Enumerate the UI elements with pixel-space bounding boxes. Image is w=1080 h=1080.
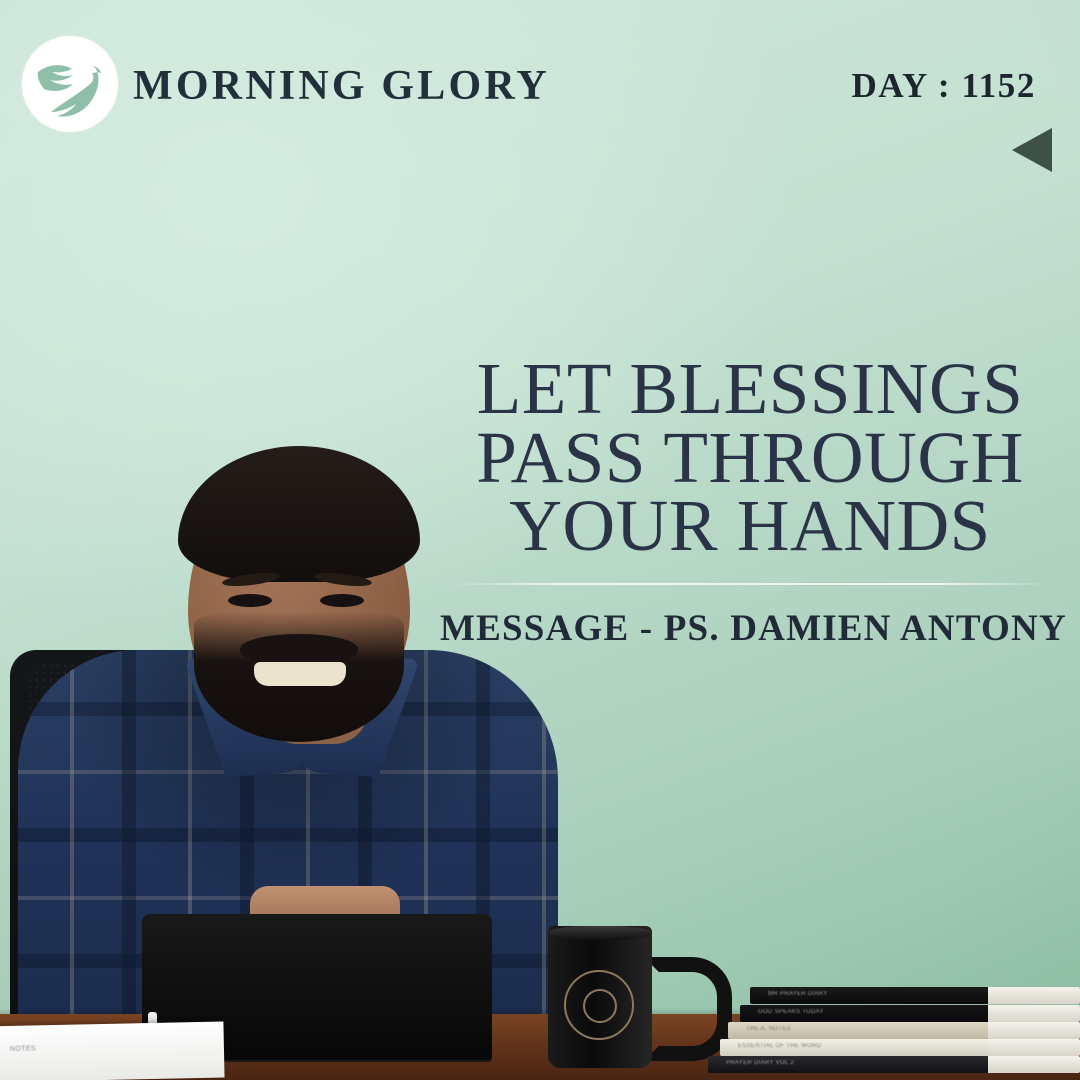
title-divider [452, 583, 1048, 585]
brand-title: MORNING GLORY [133, 62, 550, 110]
book-spine-text: GOD SPEAKS TODAY [758, 1009, 824, 1015]
book-spine-text: MR PRAYER DIARY [768, 991, 828, 997]
paper-note-text: NOTES [10, 1045, 36, 1053]
day-counter: DAY : 1152 [851, 66, 1036, 106]
book-spine-text: PRAYER DIARY VOL 2 [726, 1060, 794, 1066]
paper-notes: NOTES [0, 1021, 225, 1080]
speaker-head [188, 462, 410, 728]
speaker-smile [254, 662, 346, 686]
coffee-mug [548, 923, 708, 1068]
book-item: THE A. NOTES [728, 1022, 1080, 1039]
headline-line-3: YOUR HANDS [440, 492, 1060, 561]
speaker-mustache [240, 634, 358, 664]
book-page-edge [988, 1005, 1080, 1022]
message-block: LET BLESSINGS PASS THROUGH YOUR HANDS ME… [440, 355, 1060, 650]
book-item: MR PRAYER DIARY [750, 987, 1080, 1004]
book-item: PRAYER DIARY VOL 2 [708, 1056, 1080, 1073]
page-title: LET BLESSINGS PASS THROUGH YOUR HANDS [440, 355, 1060, 561]
book-page-edge [988, 1022, 1080, 1039]
speaker-hair [178, 446, 420, 582]
book-page-edge [988, 987, 1080, 1004]
book-spine-text: THE A. NOTES [746, 1026, 791, 1032]
day-counter-label: DAY : 1152 [851, 66, 1036, 105]
headline-line-2: PASS THROUGH [440, 424, 1060, 493]
headline-line-1: LET BLESSINGS [440, 355, 1060, 424]
mug-body [548, 926, 652, 1068]
book-page-edge [988, 1056, 1080, 1073]
mug-logo-icon [564, 970, 634, 1040]
poster-header: MORNING GLORY DAY : 1152 [0, 0, 1080, 170]
book-stack: MR PRAYER DIARY GOD SPEAKS TODAY THE A. … [700, 970, 1080, 1080]
mug-logo-inner-ring [583, 989, 617, 1023]
book-page-edge [988, 1039, 1080, 1056]
morning-glory-poster: MR PRAYER DIARY GOD SPEAKS TODAY THE A. … [0, 0, 1080, 1080]
book-spine-text: ESSENTIAL OF THE WORD [738, 1043, 821, 1049]
left-triangle-icon [1012, 128, 1052, 172]
mug-rim [548, 926, 652, 940]
speaker-credit: MESSAGE - PS. DAMIEN ANTONY [440, 607, 1060, 650]
book-item: GOD SPEAKS TODAY [740, 1005, 1080, 1022]
eye-left [228, 594, 272, 607]
book-item: ESSENTIAL OF THE WORD [720, 1039, 1080, 1056]
dove-icon [22, 36, 118, 132]
eye-right [320, 594, 364, 607]
